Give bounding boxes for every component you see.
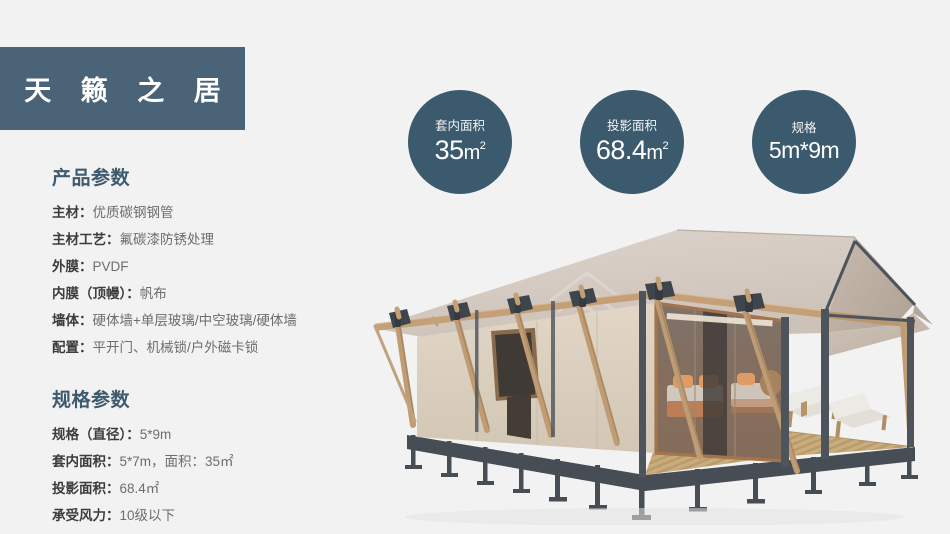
section-heading-specification: 规格参数 [52, 385, 382, 412]
spec-value: 10级以下 [120, 508, 176, 523]
stat-number: 35 [435, 135, 464, 165]
spec-label: 主材： [52, 205, 93, 220]
page-title: 天 籁 之 居 [13, 69, 232, 108]
spec-value: 硬体墙+单层玻璃/中空玻璃/硬体墙 [93, 313, 297, 328]
spec-label: 内膜（顶幔）： [52, 286, 140, 301]
spec-row: 墙体：硬体墙+单层玻璃/中空玻璃/硬体墙 [52, 307, 382, 334]
stat-value: 5m*9m [769, 139, 839, 162]
product-render-image: XUELI TENT [355, 225, 950, 525]
stat-caption: 投影面积 [607, 120, 657, 133]
spec-value: 优质碳钢钢管 [93, 205, 174, 220]
slide-root: 天 籁 之 居 套内面积 35m2 投影面积 68.4m2 规格 5m*9m 产… [0, 0, 950, 534]
stat-unit-exponent: 2 [663, 140, 669, 152]
spec-value: 5*7m，面积：35㎡ [120, 454, 234, 469]
stat-number: 68.4 [596, 135, 647, 165]
stat-unit: m [464, 142, 480, 164]
spec-value: 平开门、机械锁/户外磁卡锁 [93, 340, 259, 355]
spec-row: 主材工艺：氟碳漆防锈处理 [52, 226, 382, 253]
spec-label: 投影面积： [52, 481, 120, 496]
stat-circle-dimensions: 规格 5m*9m [752, 90, 856, 194]
stat-value: 35m2 [435, 137, 486, 164]
stat-unit: m [646, 142, 662, 164]
stat-circle-projected-area: 投影面积 68.4m2 [580, 90, 684, 194]
title-band: 天 籁 之 居 [0, 47, 245, 130]
spec-row: 投影面积：68.4㎡ [52, 475, 382, 502]
spec-value: PVDF [93, 259, 129, 274]
stat-circle-group: 套内面积 35m2 投影面积 68.4m2 规格 5m*9m [408, 90, 908, 194]
spec-row: 主材：优质碳钢钢管 [52, 199, 382, 226]
spec-label: 墙体： [52, 313, 93, 328]
spec-value: 5*9m [140, 427, 172, 442]
stat-value: 68.4m2 [596, 137, 668, 164]
spec-row: 承受风力：10级以下 [52, 502, 382, 529]
stat-caption: 规格 [791, 122, 816, 135]
stat-number: 5m*9m [769, 137, 839, 163]
spec-label: 外膜： [52, 259, 93, 274]
spec-row: 规格（直径）：5*9m [52, 421, 382, 448]
spec-value: 氟碳漆防锈处理 [120, 232, 215, 247]
stat-unit-exponent: 2 [480, 140, 486, 152]
spec-row: 内膜（顶幔）：帆布 [52, 280, 382, 307]
spec-label: 承受风力： [52, 508, 120, 523]
spec-row: 套内面积：5*7m，面积：35㎡ [52, 448, 382, 475]
spec-value: 68.4㎡ [120, 481, 160, 496]
spec-column: 产品参数 主材：优质碳钢钢管 主材工艺：氟碳漆防锈处理 外膜：PVDF 内膜（顶… [52, 163, 382, 529]
stat-caption: 套内面积 [435, 120, 485, 133]
spec-label: 配置： [52, 340, 93, 355]
stat-circle-interior-area: 套内面积 35m2 [408, 90, 512, 194]
spec-row: 配置：平开门、机械锁/户外磁卡锁 [52, 334, 382, 361]
spec-value: 帆布 [140, 286, 167, 301]
spec-label: 规格（直径）： [52, 427, 140, 442]
section-heading-product: 产品参数 [52, 163, 382, 190]
spec-label: 主材工艺： [52, 232, 120, 247]
spec-row: 外膜：PVDF [52, 253, 382, 280]
spec-label: 套内面积： [52, 454, 120, 469]
